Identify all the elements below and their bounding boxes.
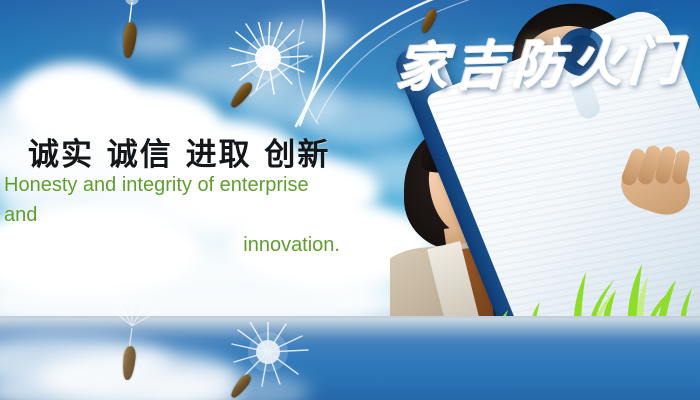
dandelion-seed-2 xyxy=(222,22,314,108)
dandelion-seed-1 xyxy=(96,0,170,60)
slogan-english: Honesty and integrity of enterprise and … xyxy=(4,170,346,260)
banner-image: 诚实 诚信 进取 创新 Honesty and integrity of ent… xyxy=(0,0,700,400)
dandelion-puff-icon xyxy=(96,300,170,386)
reflected-dandelion-2 xyxy=(222,322,314,400)
slogan-chinese: 诚实 诚信 进取 创新 xyxy=(28,129,330,174)
slogan-english-line-2: innovation. xyxy=(4,230,346,260)
slogan-english-line-1: Honesty and integrity of enterprise and xyxy=(4,170,346,230)
reflected-dandelion-1 xyxy=(96,300,170,386)
brand-title: 家吉防火门 xyxy=(394,18,688,101)
